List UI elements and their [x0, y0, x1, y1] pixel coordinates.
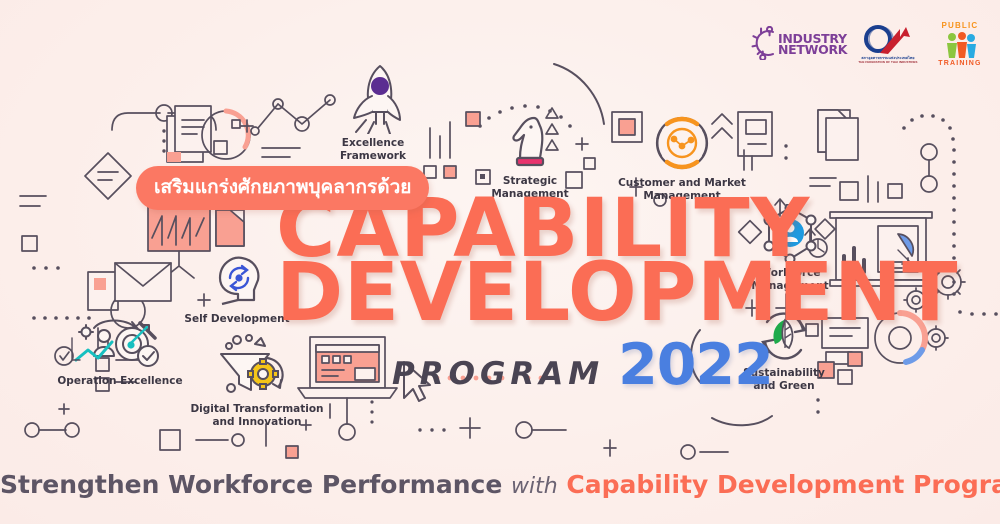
- thai-headline-pill: เสริมแกร่งศักยภาพบุคลากรด้วย: [136, 166, 429, 210]
- headline-development: DEVELOPMENT: [276, 260, 958, 326]
- category-label-line2: and Innovation: [212, 416, 301, 428]
- bottom-tagline: Strengthen Workforce Performance with Ca…: [0, 470, 1000, 499]
- headline-year: 2022: [618, 332, 773, 398]
- category-operation-excellence[interactable]: Operation Excellence: [54, 316, 186, 388]
- category-label-line1: Operation Excellence: [57, 375, 182, 387]
- capability-development-banner: INDUSTRY NETWORK สภาอุตสาหกรรมแห่งประเทศ…: [0, 0, 1000, 524]
- rocket-icon: [342, 62, 404, 134]
- tagline-part2: Capability Development Program: [566, 470, 1000, 499]
- category-label-line1: Excellence: [342, 137, 404, 149]
- tagline-connector: with: [511, 474, 558, 499]
- category-digital-transformation-and-innovation[interactable]: Digital Transformation and Innovation: [178, 334, 336, 428]
- category-excellence-framework[interactable]: Excellence Framework: [318, 62, 428, 162]
- headline-program-word: PROGRAM: [392, 356, 604, 392]
- tagline-part1: Strengthen Workforce Performance: [0, 470, 502, 499]
- head-refresh-icon: [208, 252, 266, 310]
- category-label-line1: Digital Transformation: [190, 403, 323, 415]
- target-arrow-person-icon: [68, 316, 172, 372]
- funnel-gear-icon: [215, 334, 299, 400]
- chess-knight-icon: [506, 114, 554, 172]
- category-label-line1: Self Development: [184, 313, 289, 325]
- headline-program-year: PROGRAM 2022: [392, 332, 773, 398]
- target-network-icon: [651, 112, 713, 174]
- category-label-line2: Framework: [340, 150, 406, 162]
